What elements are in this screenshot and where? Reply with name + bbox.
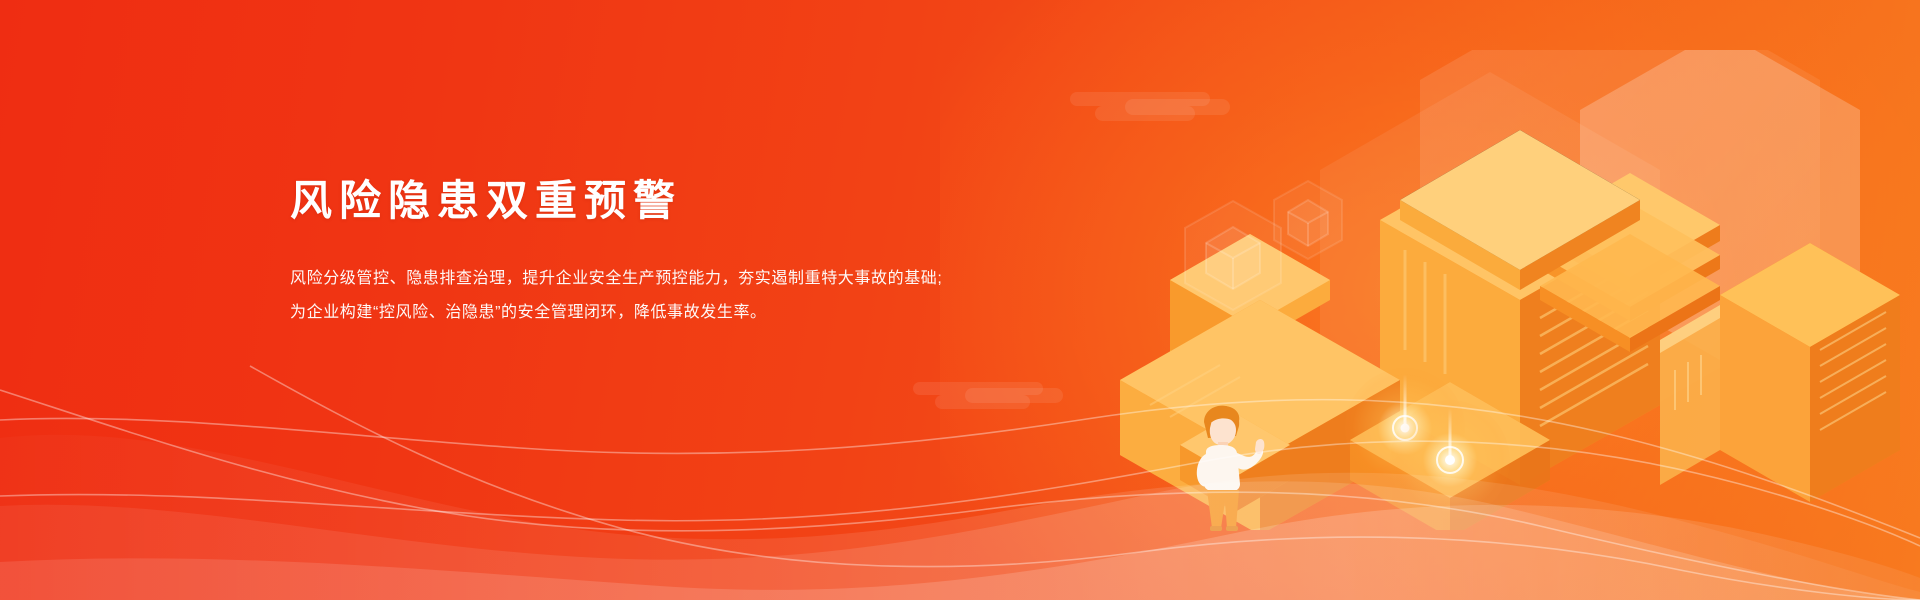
background-glow (940, 0, 1920, 600)
person-pointing-figure (1178, 398, 1298, 533)
glow-point-upper (1345, 368, 1465, 488)
page-title: 风险隐患双重预警 (290, 176, 1010, 226)
glow-point-lower (1390, 400, 1510, 520)
hexagon-cube-icon-small (1268, 178, 1348, 264)
banner-copy: 风险隐患双重预警 风险分级管控、隐患排查治理，提升企业安全生产预控能力，夯实遏制… (290, 176, 1010, 330)
cloud-decoration-top (1050, 92, 1230, 132)
subtitle-line-2: 为企业构建“控风险、治隐患”的安全管理闭环，降低事故发生率。 (290, 296, 1010, 330)
hexagon-cube-icon-large (1178, 197, 1288, 315)
subtitle-line-1: 风险分级管控、隐患排查治理，提升企业安全生产预控能力，夯实遏制重特大事故的基础; (290, 262, 1010, 296)
cloud-decoration-bottom (895, 382, 1065, 420)
hero-banner: 风险隐患双重预警 风险分级管控、隐患排查治理，提升企业安全生产预控能力，夯实遏制… (0, 0, 1920, 600)
isometric-illustration (1020, 50, 1920, 530)
